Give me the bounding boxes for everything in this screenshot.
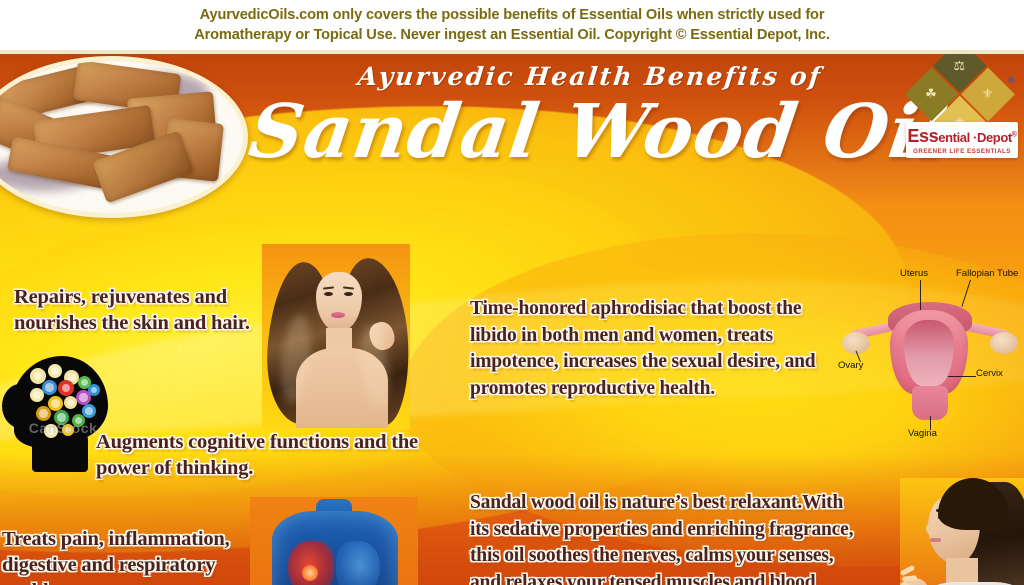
- gear-icon: [82, 404, 96, 418]
- petal: [902, 575, 917, 582]
- neck: [946, 558, 978, 585]
- logo-brand-name: Essential ·Depot®: [907, 126, 1016, 147]
- uterine-cavity: [904, 320, 954, 386]
- neck-silhouette: [32, 430, 88, 472]
- disclaimer-banner: AyurvedicOils.com only covers the possib…: [0, 0, 1024, 50]
- petal: [900, 582, 915, 585]
- petal: [900, 565, 915, 576]
- label-fallopian-tube: Fallopian Tube: [956, 268, 1018, 279]
- relaxing-woman-photo: [900, 478, 1024, 585]
- logo-registered-icon: ®: [1012, 131, 1017, 138]
- leader-line: [920, 280, 921, 310]
- benefit-text-relaxant: Sandal wood oil is nature’s best relaxan…: [470, 490, 862, 585]
- label-uterus: Uterus: [900, 268, 928, 279]
- gear-icon: [48, 396, 63, 411]
- logo-tagline: GREENER LIFE ESSENTIALS: [913, 148, 1011, 155]
- long-hair-woman-photo: [262, 244, 410, 429]
- gear-icon: [48, 364, 62, 378]
- gear-icon: [30, 388, 44, 402]
- label-vagina: Vagina: [908, 428, 937, 439]
- sandalwood-chips-photo: [0, 56, 248, 218]
- gear-icon: [42, 380, 57, 395]
- leader-line: [948, 376, 976, 377]
- eye: [344, 292, 353, 296]
- label-cervix: Cervix: [976, 368, 1003, 379]
- heart-highlight: [302, 565, 318, 581]
- lips: [930, 538, 941, 542]
- page-subtitle: Ayurvedic Health Benefits of: [248, 62, 931, 91]
- gear-icon: [36, 406, 51, 421]
- benefit-text-cognitive: Augments cognitive functions and the pow…: [96, 429, 436, 481]
- page-title: Sandal Wood Oil: [245, 93, 936, 171]
- gear-icon: [76, 390, 91, 405]
- lips: [331, 312, 345, 318]
- flower-petals: [900, 562, 928, 585]
- poster-body: Ayurvedic Health Benefits of Sandal Wood…: [0, 54, 1024, 585]
- lung-right: [336, 541, 380, 585]
- infographic-poster: AyurvedicOils.com only covers the possib…: [0, 0, 1024, 585]
- disclaimer-text: AyurvedicOils.com only covers the possib…: [194, 5, 830, 45]
- vaginal-canal: [912, 386, 948, 420]
- gear-icon: [64, 396, 77, 409]
- benefit-text-aphrodisiac: Time-honored aphrodisiac that boost the …: [470, 296, 850, 402]
- title-block: Ayurvedic Health Benefits of Sandal Wood…: [250, 62, 930, 171]
- benefit-text-skin-hair: Repairs, rejuvenates and nourishes the s…: [14, 284, 314, 336]
- essential-depot-logo[interactable]: ⚖ ⚜ ☘ ❀ ® Essential ·Depot® GREENER LIFE…: [906, 60, 1018, 170]
- banner-divider-rule: [0, 50, 1024, 54]
- benefit-text-pain: Treats pain, inflammation, digestive and…: [2, 526, 292, 585]
- female-reproductive-diagram: Uterus Fallopian Tube Ovary Cervix Vagin…: [838, 264, 1024, 450]
- gear-icon: [58, 380, 74, 396]
- disclaimer-line-1: AyurvedicOils.com only covers the possib…: [200, 7, 825, 23]
- registered-mark-icon: ®: [1007, 76, 1016, 86]
- ovary-right: [990, 332, 1018, 354]
- disclaimer-line-2: Aromatherapy or Topical Use. Never inges…: [194, 27, 830, 43]
- leader-line: [961, 280, 971, 307]
- eye: [324, 292, 333, 296]
- logo-nameplate: Essential ·Depot® GREENER LIFE ESSENTIAL…: [906, 122, 1018, 158]
